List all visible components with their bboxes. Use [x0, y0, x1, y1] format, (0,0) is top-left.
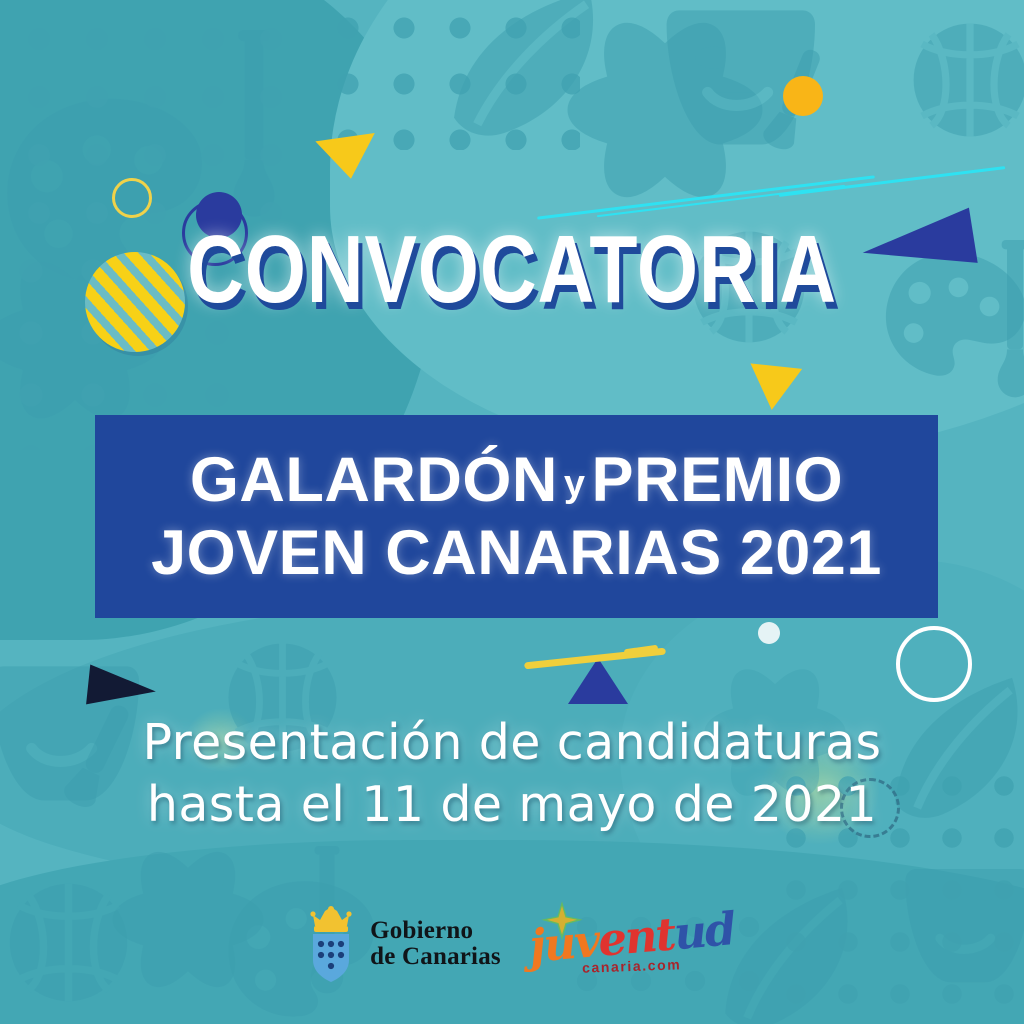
gobierno-line-1: Gobierno: [370, 918, 501, 945]
gobierno-logo-text: Gobierno de Canarias: [370, 918, 501, 971]
dot-pattern: [10, 10, 310, 240]
banner-line-2: JOVEN CANARIAS 2021: [151, 519, 882, 587]
deadline-line-2: hasta el 11 de mayo de 2021: [0, 774, 1024, 836]
cyan-streak-lines: [537, 175, 875, 219]
theater-mask-icon: [660, 4, 850, 154]
banner-conjunction: y: [558, 463, 592, 505]
yellow-bar: [524, 648, 666, 670]
leaf-hand-icon: [416, 0, 633, 156]
banner-prize-label: PREMIO: [592, 445, 844, 515]
orange-dot: [783, 76, 823, 116]
deadline-text: Presentación de candidaturas hasta el 11…: [0, 712, 1024, 835]
yellow-bar: [624, 645, 659, 656]
test-tube-icon: [995, 240, 1024, 400]
gobierno-line-2: de Canarias: [370, 944, 501, 971]
atom-icon: [560, 10, 770, 210]
juventud-canaria-logo: juventud canaria.com: [543, 905, 721, 983]
gobierno-de-canarias-logo: Gobierno de Canarias: [303, 906, 501, 982]
navy-triangle-right: [86, 665, 158, 712]
page-title: CONVOCATORIA: [92, 222, 932, 318]
white-dot: [758, 622, 780, 644]
juventud-part-3: ud: [672, 902, 737, 960]
canary-islands-shield-crown-icon: [303, 906, 359, 982]
poster-canvas: CONVOCATORIA GALARDÓNyPREMIO JOVEN CANAR…: [0, 0, 1024, 1024]
white-ring: [896, 626, 972, 702]
blue-triangle-up: [568, 658, 628, 704]
yellow-triangle-down: [746, 363, 802, 412]
dot-pattern: [320, 0, 580, 150]
juventud-domain: canaria.com: [582, 956, 682, 975]
basketball-icon: [910, 20, 1024, 140]
award-title-banner: GALARDÓNyPREMIO JOVEN CANARIAS 2021: [95, 415, 938, 618]
yellow-triangle-down: [315, 133, 380, 183]
yellow-outline-circle: [112, 178, 152, 218]
banner-award-label: GALARDÓN: [190, 445, 558, 515]
cyan-streak-lines: [779, 166, 1006, 197]
deadline-line-1: Presentación de candidaturas: [0, 712, 1024, 774]
logo-row: Gobierno de Canarias juventud canaria.co…: [0, 905, 1024, 983]
paintbrush-icon: [732, 36, 849, 176]
test-tube-icon: [230, 30, 278, 220]
banner-line-1: GALARDÓNyPREMIO: [190, 446, 843, 514]
